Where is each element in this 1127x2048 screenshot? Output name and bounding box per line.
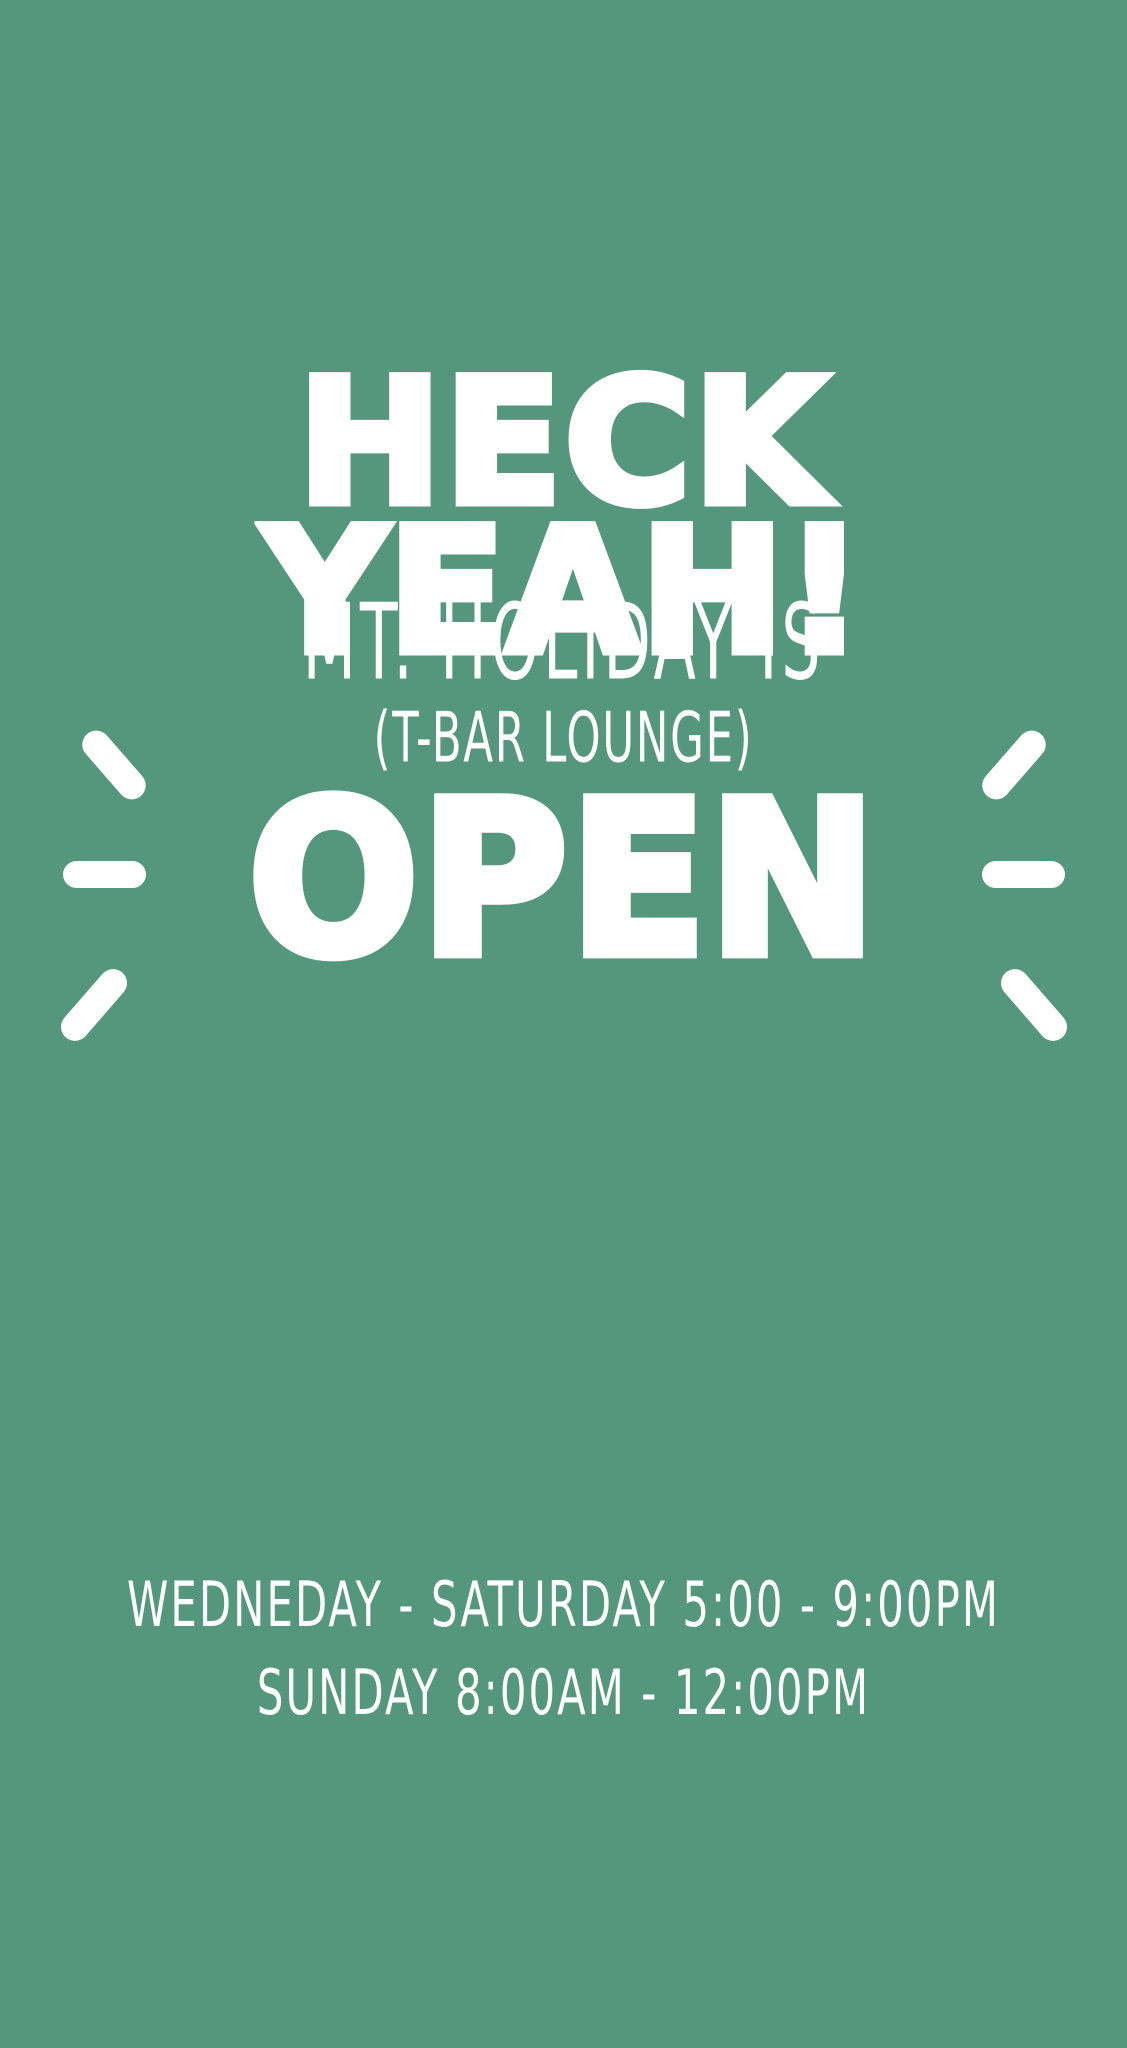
hours-group: WEDNEDAY - SATURDAY 5:00 - 9:00PM SUNDAY… xyxy=(0,1578,1127,1720)
status-group: OPEN xyxy=(0,789,1127,973)
subtitle-venue-line: MT. HOLIDAY IS xyxy=(113,591,1015,696)
subtitle-group: MT. HOLIDAY IS (T-BAR LOUNGE) xyxy=(0,600,1127,767)
hours-line-weekdays: WEDNEDAY - SATURDAY 5:00 - 9:00PM xyxy=(79,1574,1048,1637)
hours-line-sunday: SUNDAY 8:00AM - 12:00PM xyxy=(79,1662,1048,1725)
poster-canvas: HECK YEAH! MT. HOLIDAY IS (T-BAR LOUNGE)… xyxy=(0,0,1127,2048)
status-word-open: OPEN xyxy=(0,783,1127,978)
sunburst-decoration xyxy=(0,0,1127,2048)
